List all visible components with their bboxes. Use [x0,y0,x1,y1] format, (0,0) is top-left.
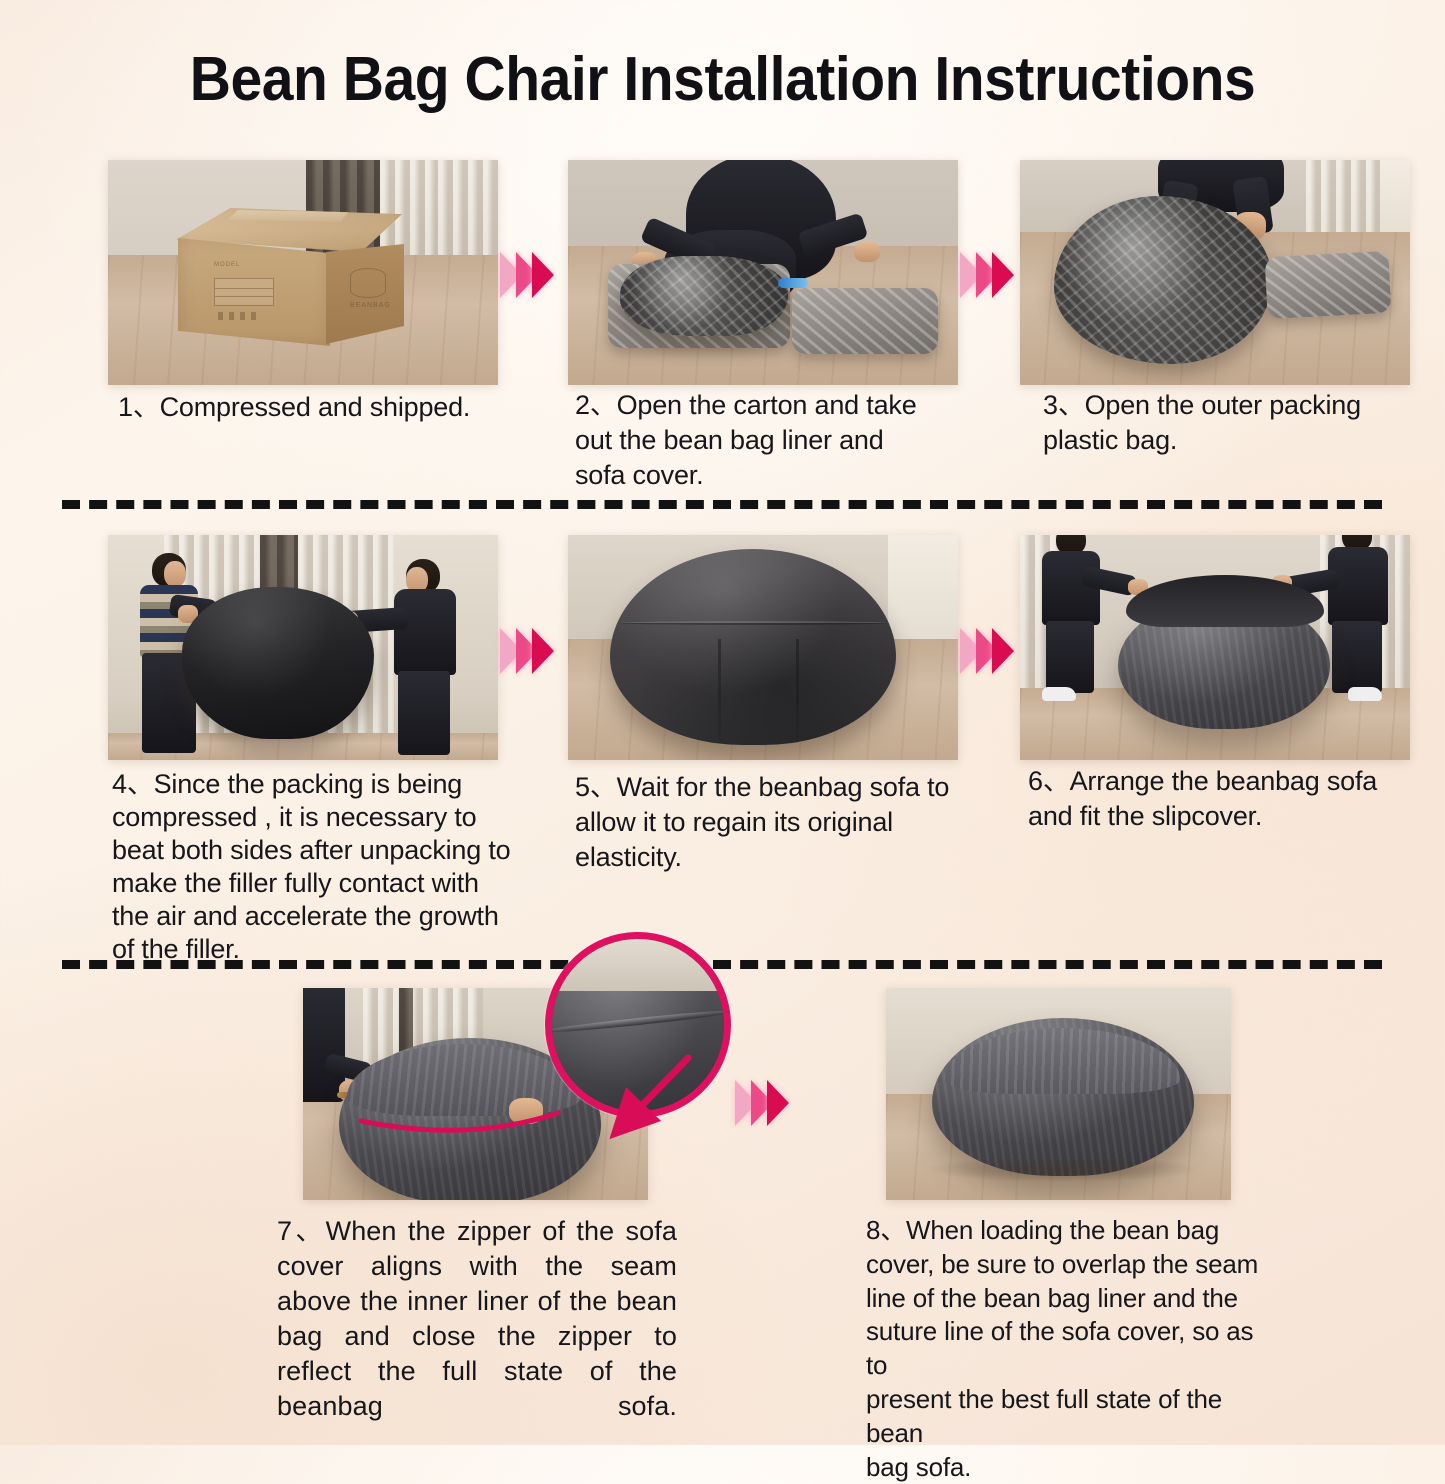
divider-row1-row2 [62,500,1382,509]
step-1-image: BEANBAG MODEL [108,160,498,385]
step-7-caption: 7、When the zipper of the sofa cover alig… [277,1214,677,1460]
step-4-image [108,535,498,760]
chevron-right-icon [992,252,1014,298]
chevron-right-icon [767,1080,789,1126]
step-4-caption: 4、Since the packing is being compressed … [112,768,532,966]
step-2-image [568,160,958,385]
arrow-step7-to-step8 [735,1080,783,1126]
arrow-step2-to-step3 [960,252,1008,298]
step-5-caption: 5、Wait for the beanbag sofa to allow it … [575,770,975,875]
arrow-step1-to-step2 [500,252,548,298]
arrow-step5-to-step6 [960,628,1008,674]
step-6-caption: 6、Arrange the beanbag sofa and fit the s… [1028,764,1428,834]
step-8-image [886,988,1231,1200]
instruction-poster: Bean Bag Chair Installation Instructions… [0,0,1445,1445]
step-3-image [1020,160,1410,385]
chevron-right-icon [992,628,1014,674]
chevron-right-icon [532,252,554,298]
step-8-caption: 8、When loading the bean bag cover, be su… [866,1214,1276,1484]
page-title: Bean Bag Chair Installation Instructions [58,44,1387,115]
step-3-caption: 3、Open the outer packing plastic bag. [1043,388,1433,458]
step-1-caption: 1、Compressed and shipped. [118,390,548,425]
arrow-step4-to-step5 [500,628,548,674]
step-6-image [1020,535,1410,760]
step-5-image [568,535,958,760]
step-2-caption: 2、Open the carton and take out the bean … [575,388,975,493]
callout-pointer-arrow [520,1020,730,1160]
chevron-right-icon [532,628,554,674]
